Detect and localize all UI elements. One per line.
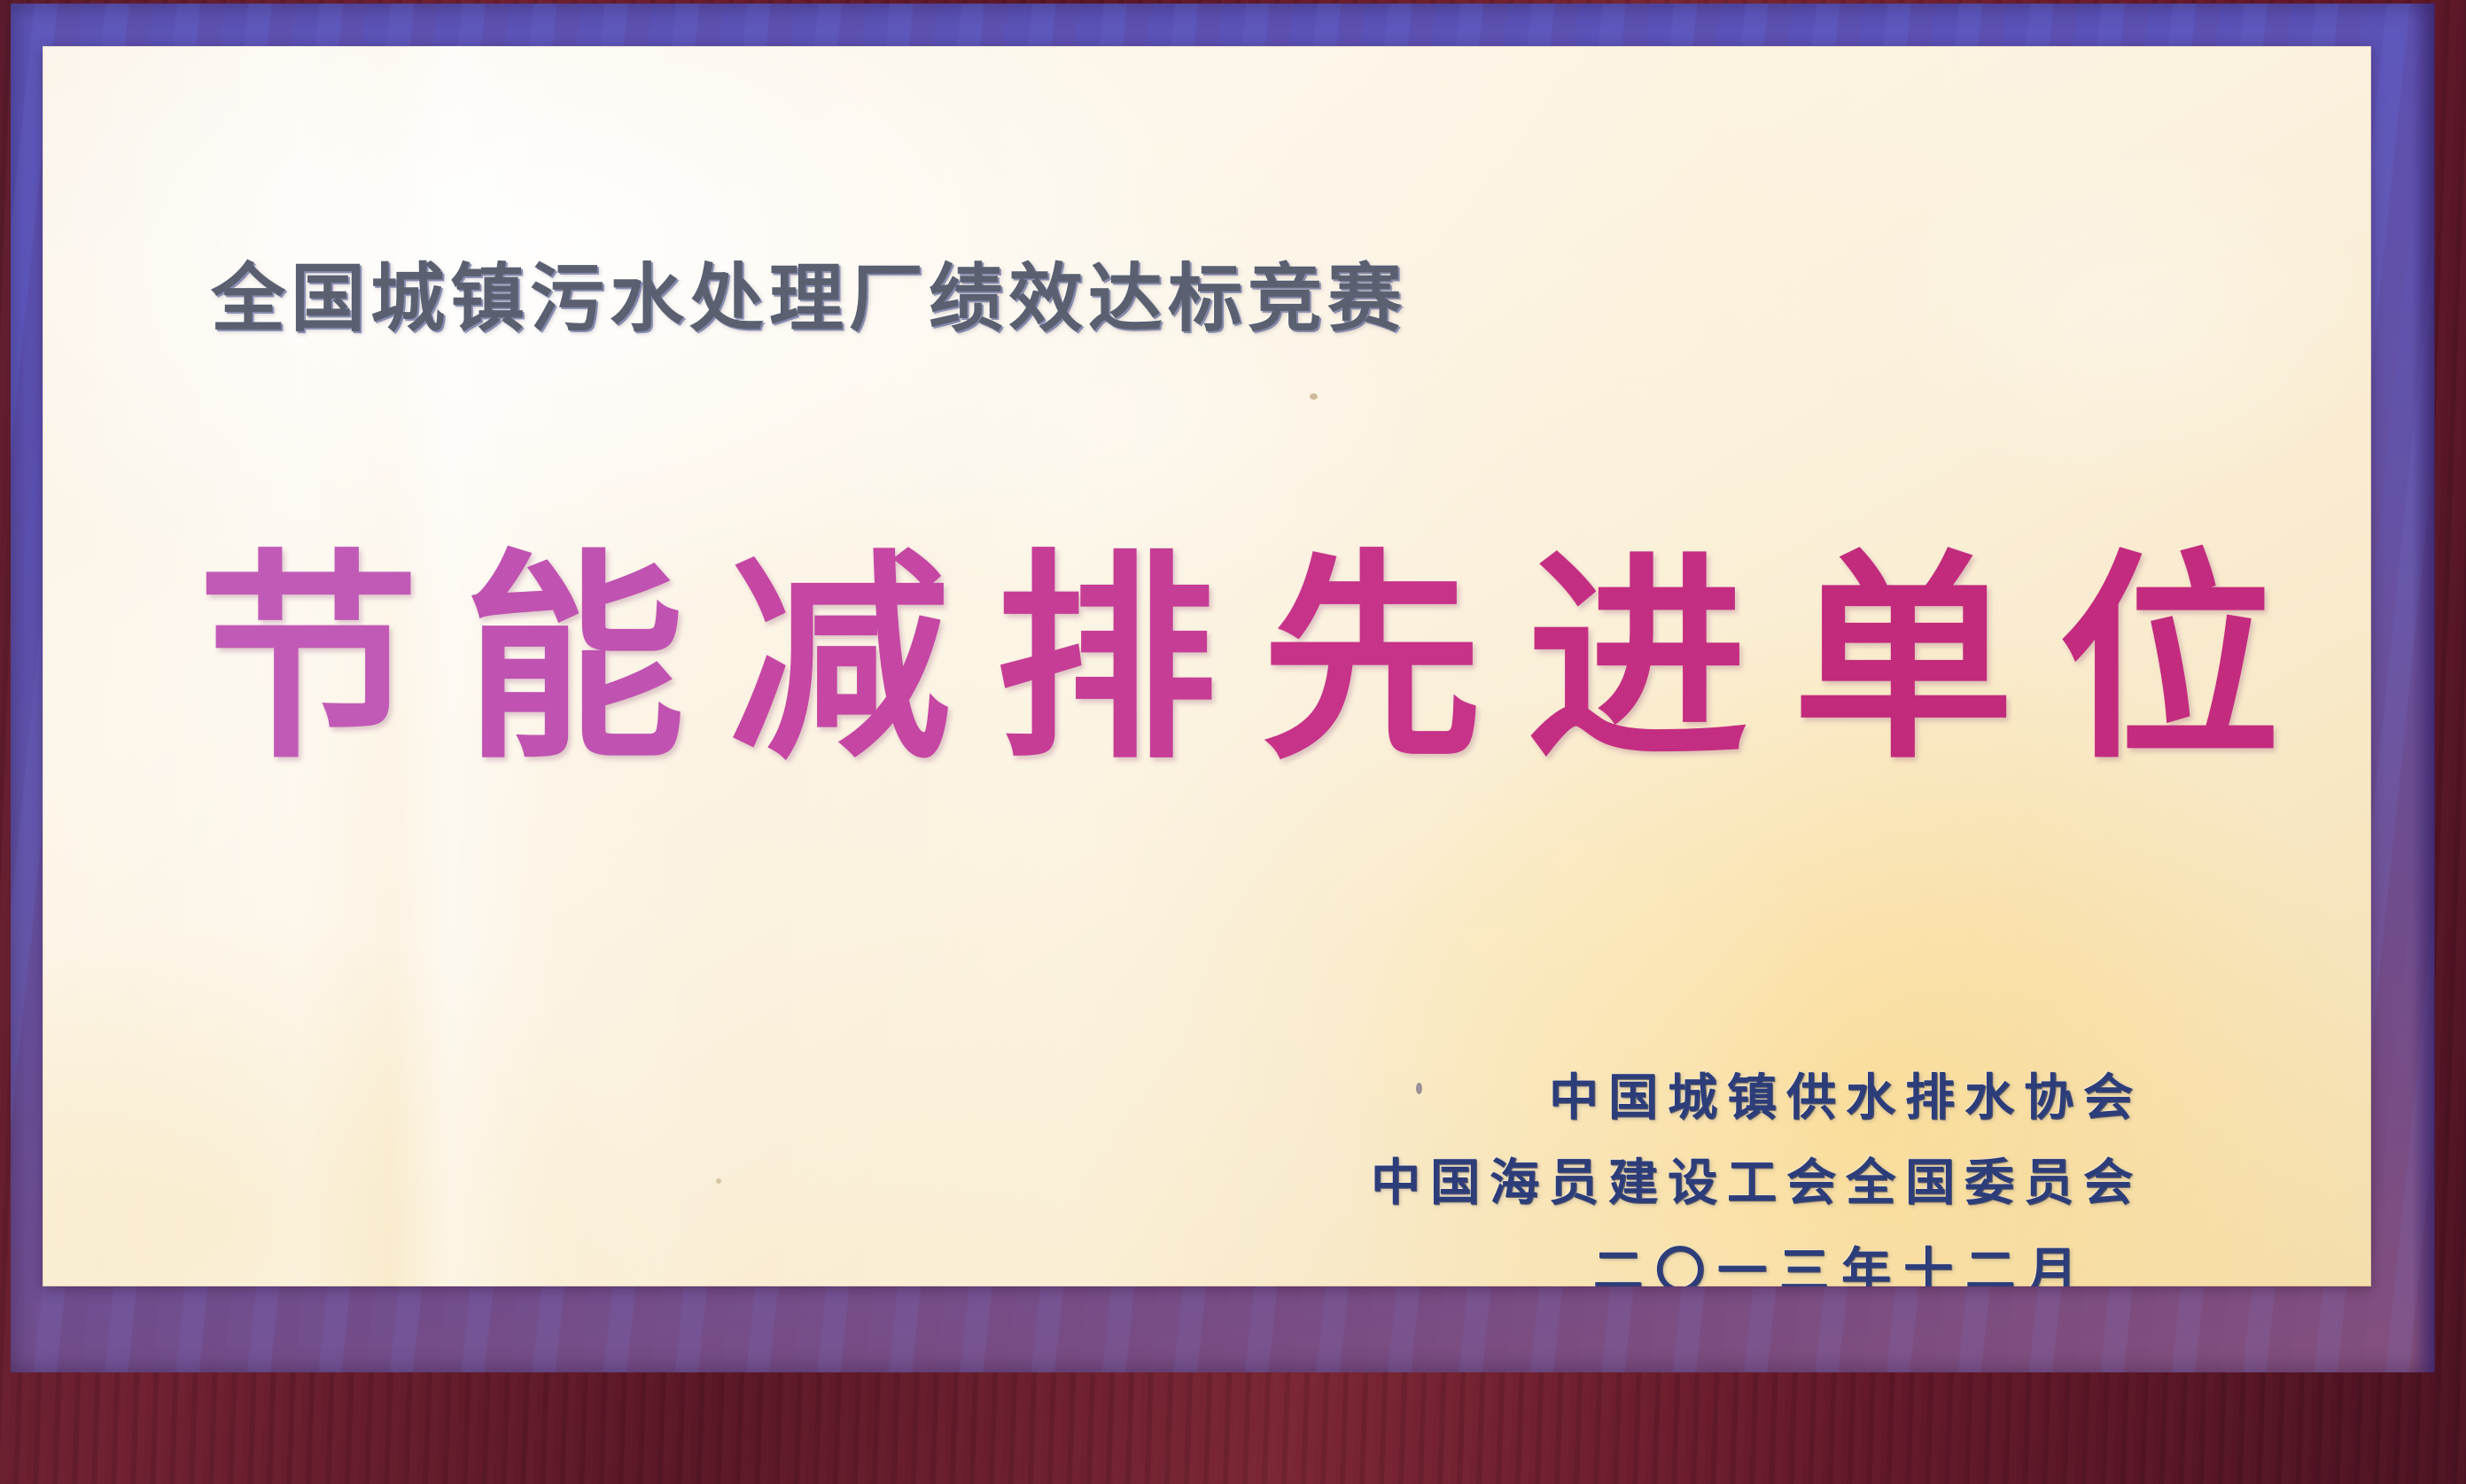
title-char-6: 进: [1527, 547, 1748, 773]
mat-shadow-stripe: [2412, 4, 2435, 1372]
title-char-3: 减: [729, 547, 951, 773]
award-plaque-board: 全国城镇污水处理厂绩效达标竞赛 节 能 减 排 先 进 单 位 中国城镇供水排水…: [43, 46, 2371, 1286]
issuer-signature-block: 中国城镇供水排水协会 中国海员建设工会全国委员会 二〇一三年十二月: [1371, 1074, 2143, 1286]
issue-date: 二〇一三年十二月: [1371, 1247, 2089, 1286]
competition-header-text: 全国城镇污水处理厂绩效达标竞赛: [211, 261, 1407, 336]
plaque-content: 全国城镇污水处理厂绩效达标竞赛 节 能 减 排 先 进 单 位 中国城镇供水排水…: [43, 46, 2371, 1286]
issuer-organization-1: 中国城镇供水排水协会: [1371, 1074, 2143, 1123]
title-char-8: 位: [2058, 547, 2280, 773]
title-char-7: 单: [1793, 547, 2014, 773]
surface-speck-3: [1461, 1178, 1466, 1189]
title-char-5: 先: [1261, 547, 1482, 773]
award-plaque-frame: 全国城镇污水处理厂绩效达标竞赛 节 能 减 排 先 进 单 位 中国城镇供水排水…: [0, 0, 2466, 1484]
surface-speck-2: [1416, 1083, 1422, 1094]
surface-speck-5: [716, 1178, 721, 1184]
award-title: 节 能 减 排 先 进 单 位: [198, 547, 2280, 773]
surface-speck-1: [1310, 393, 1318, 400]
title-char-4: 排: [995, 547, 1217, 773]
title-char-1: 节: [198, 547, 419, 773]
issuer-organization-2: 中国海员建设工会全国委员会: [1371, 1159, 2143, 1208]
title-char-2: 能: [463, 547, 685, 773]
